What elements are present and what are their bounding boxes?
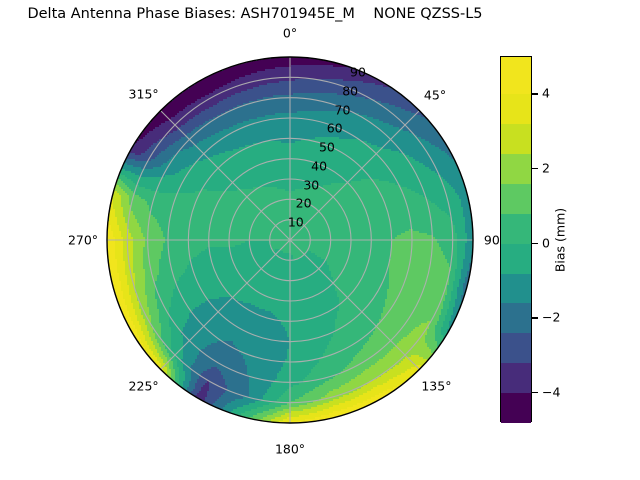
theta-tick-315: 315°	[129, 86, 159, 101]
r-tick-30: 30	[303, 177, 319, 192]
r-tick-10: 10	[288, 215, 304, 230]
theta-tick-270: 270°	[68, 233, 98, 248]
colorbar-gradient	[500, 56, 532, 422]
theta-tick-180: 180°	[275, 442, 305, 457]
r-tick-20: 20	[296, 196, 312, 211]
colorbar-tick-label: 2	[542, 161, 550, 176]
colorbar-tick-label: 4	[542, 86, 550, 101]
r-tick-80: 80	[342, 83, 358, 98]
polar-grid	[107, 57, 473, 423]
colorbar-tick-label: 0	[542, 235, 550, 250]
theta-tick-0: 0°	[283, 26, 297, 41]
r-tick-50: 50	[319, 140, 335, 155]
colorbar[interactable]: −4−2024	[500, 56, 532, 422]
r-tick-40: 40	[311, 158, 327, 173]
r-tick-60: 60	[327, 121, 343, 136]
colorbar-tick-mark	[532, 392, 538, 393]
colorbar-tick-mark	[532, 317, 538, 318]
colorbar-tick-label: −2	[542, 310, 560, 325]
polar-axes[interactable]: 0°45°90°135°180°225°270°315° 10203040506…	[0, 0, 510, 480]
theta-tick-135: 135°	[421, 379, 451, 394]
colorbar-tick-mark	[532, 243, 538, 244]
colorbar-tick-mark	[532, 168, 538, 169]
colorbar-axis-label: Bias (mm)	[553, 208, 568, 272]
colorbar-tick-mark	[532, 93, 538, 94]
figure-canvas: Delta Antenna Phase Biases: ASH701945E_M…	[0, 0, 640, 480]
colorbar-tick-label: −4	[542, 385, 560, 400]
r-tick-90: 90	[350, 64, 366, 79]
r-tick-70: 70	[335, 102, 351, 117]
theta-tick-45: 45°	[424, 88, 446, 103]
theta-tick-225: 225°	[129, 379, 159, 394]
